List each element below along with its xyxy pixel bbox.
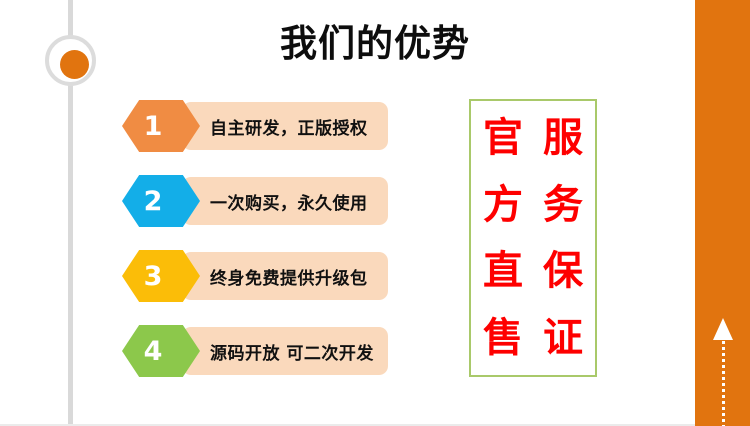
advantage-number-1: 1 [122, 100, 184, 152]
advantage-label-2: 一次购买，永久使用 [210, 175, 368, 227]
advantage-item-1[interactable]: 1 自主研发，正版授权 [122, 100, 388, 152]
advantage-item-3[interactable]: 3 终身免费提供升级包 [122, 250, 388, 302]
advantage-item-4[interactable]: 4 源码开放 可二次开发 [122, 325, 388, 377]
slogan-char-r1c1: 官 [483, 118, 523, 158]
advantage-label-4: 源码开放 可二次开发 [210, 325, 374, 377]
slogan-char-r2c1: 方 [483, 185, 523, 225]
slogan-char-r4c2: 证 [543, 318, 583, 358]
page-title: 我们的优势 [200, 22, 550, 66]
advantage-number-4: 4 [122, 325, 184, 377]
right-accent-band [695, 0, 750, 426]
advantage-label-3: 终身免费提供升级包 [210, 250, 368, 302]
advantage-list: 1 自主研发，正版授权 2 一次购买，永久使用 3 终身免费提供升级包 4 源码… [122, 100, 388, 400]
slogan-char-r3c1: 直 [483, 251, 523, 291]
slogan-box: 官 服 方 务 直 保 售 证 [469, 99, 597, 377]
advantage-number-2: 2 [122, 175, 184, 227]
advantage-label-1: 自主研发，正版授权 [210, 100, 368, 152]
timeline-marker [45, 35, 96, 86]
advantage-item-2[interactable]: 2 一次购买，永久使用 [122, 175, 388, 227]
advantage-number-3: 3 [122, 250, 184, 302]
slogan-char-r1c2: 服 [543, 118, 583, 158]
slogan-char-r3c2: 保 [543, 251, 583, 291]
timeline-marker-dot-icon [60, 50, 89, 79]
dotted-line-decoration [722, 341, 725, 426]
arrow-up-icon [713, 318, 733, 340]
slogan-char-r4c1: 售 [483, 318, 523, 358]
slogan-char-r2c2: 务 [543, 185, 583, 225]
